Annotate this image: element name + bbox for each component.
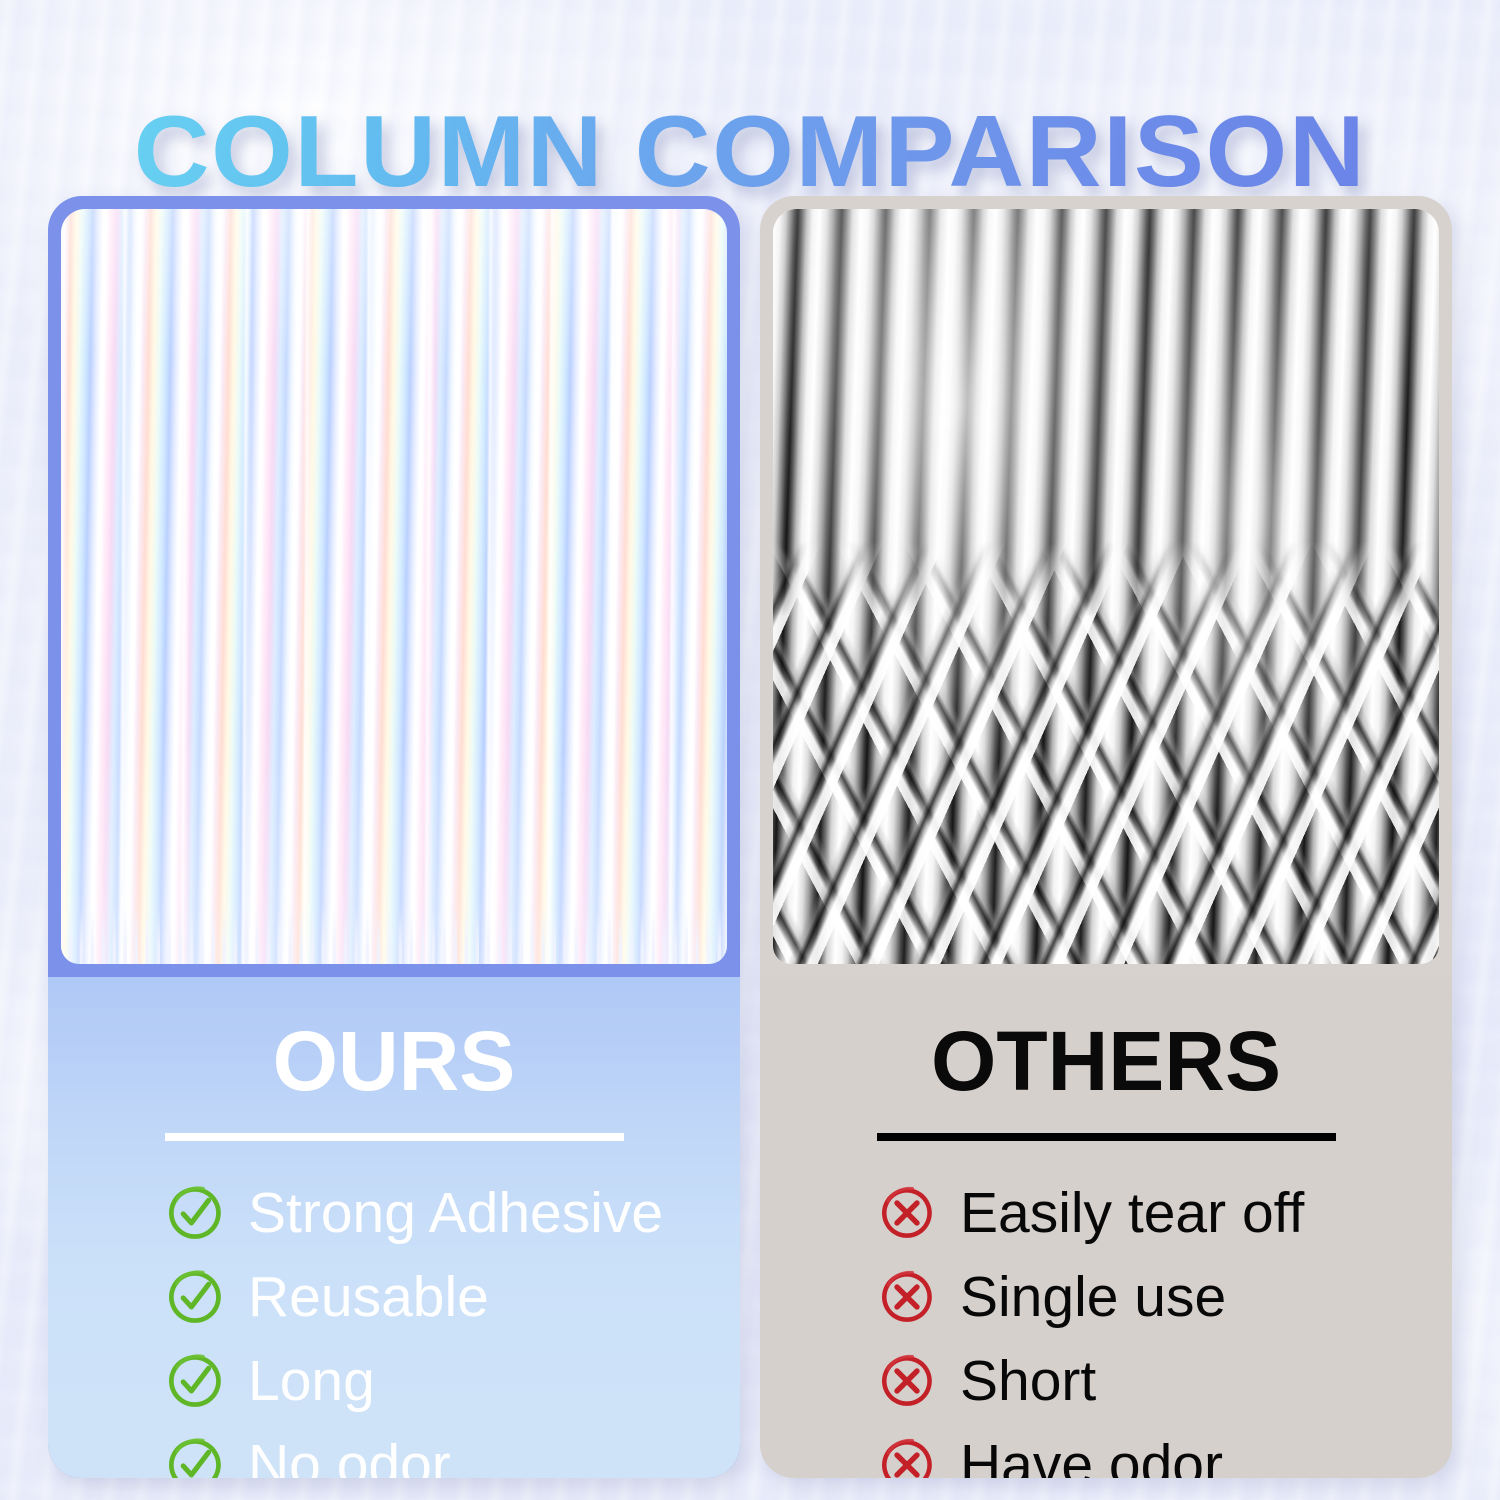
list-item: No odor: [166, 1427, 740, 1478]
list-item: Easily tear off: [878, 1175, 1452, 1251]
holographic-shine-overlay: [61, 209, 727, 964]
feature-label: Have odor: [960, 1437, 1223, 1479]
list-item: Have odor: [878, 1427, 1452, 1478]
heading-divider-others: [877, 1133, 1336, 1141]
check-circle-icon: [166, 1352, 224, 1410]
column-heading-others: OTHERS: [760, 1019, 1452, 1103]
feature-label: Easily tear off: [960, 1185, 1304, 1242]
list-item: Single use: [878, 1259, 1452, 1335]
cross-circle-icon: [878, 1436, 936, 1478]
features-panel-others: OTHERS Easily tear off: [760, 977, 1452, 1478]
feature-label: Strong Adhesive: [248, 1185, 663, 1242]
list-item: Reusable: [166, 1259, 740, 1335]
list-item: Short: [878, 1343, 1452, 1419]
feature-list-others: Easily tear off Single use: [760, 1175, 1452, 1478]
product-photo-ours: [61, 209, 727, 964]
silver-glare-overlay: [773, 209, 1439, 964]
feature-label: Reusable: [248, 1269, 489, 1326]
column-heading-ours: OURS: [48, 1019, 740, 1103]
check-circle-icon: [166, 1184, 224, 1242]
feature-list-ours: Strong Adhesive Reusable: [48, 1175, 740, 1478]
feature-label: Long: [248, 1353, 375, 1410]
comparison-infographic: COLUMN COMPARISON OURS Strong Adhesive: [0, 0, 1500, 1500]
list-item: Long: [166, 1343, 740, 1419]
comparison-card-others: OTHERS Easily tear off: [760, 196, 1452, 1478]
heading-divider-ours: [165, 1133, 624, 1141]
comparison-card-ours: OURS Strong Adhesive: [48, 196, 740, 1478]
holographic-fringe-ends: [61, 906, 727, 964]
feature-label: Single use: [960, 1269, 1226, 1326]
product-photo-others: [773, 209, 1439, 964]
page-title: COLUMN COMPARISON: [0, 102, 1500, 203]
check-circle-icon: [166, 1436, 224, 1478]
list-item: Strong Adhesive: [166, 1175, 740, 1251]
feature-label: Short: [960, 1353, 1096, 1410]
feature-label: No odor: [248, 1437, 451, 1479]
cross-circle-icon: [878, 1268, 936, 1326]
features-panel-ours: OURS Strong Adhesive: [48, 977, 740, 1478]
check-circle-icon: [166, 1268, 224, 1326]
cross-circle-icon: [878, 1184, 936, 1242]
cross-circle-icon: [878, 1352, 936, 1410]
